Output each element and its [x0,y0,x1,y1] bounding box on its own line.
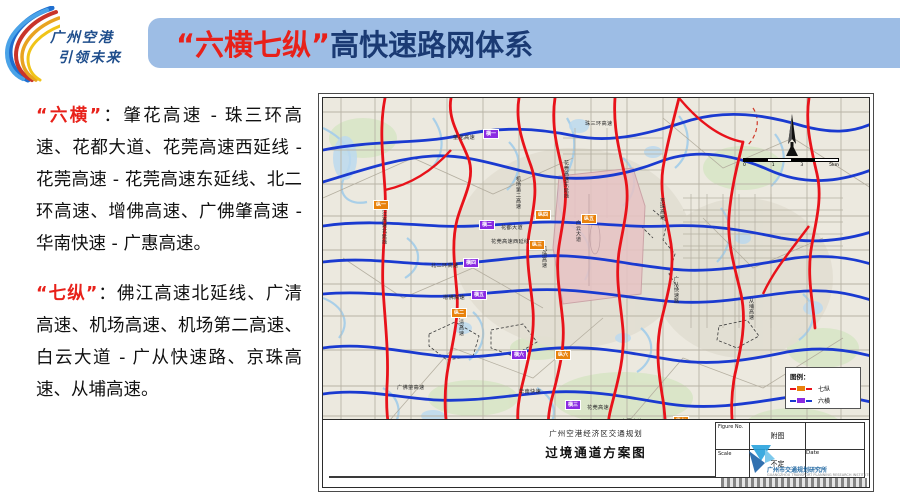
map-road-label: 从埔高速 [748,298,755,320]
map-road-label: 佛江高速北延线 [381,206,388,245]
legend-title: 图例： [790,371,856,381]
paragraph-liuheng-key: “六横” [36,106,101,126]
map-road-label: 花都大道 [501,224,523,231]
scale-label: Scale [716,450,750,477]
page-title-quoted: “六横七纵” [176,28,330,62]
legend-item-qizong: 七纵 [790,384,856,393]
paragraph-liuheng-body: 肇花高速 - 珠三环高速、花都大道、花莞高速西延线 - 花莞高速 - 花莞高速东… [36,106,302,254]
map-corridor-tag: 横六 [511,350,527,360]
title-block-scale-row: Scale 不定 Date [716,450,864,477]
map-corridor-tag: 纵二 [451,308,467,318]
map-corridor-tag: 横三 [565,400,581,410]
scale-bar-line [743,158,839,162]
title-block-spacer-1 [806,423,864,449]
figure-label: Figure No. [716,423,750,449]
map-road-label: 广从快速路 [673,276,680,304]
title-bar: “六横七纵”高快速路网体系 [148,18,900,68]
scale-value: 不定 [750,450,806,477]
legend-item-liuheng: 六横 [790,396,856,405]
map-title-block: Figure No. 附图 Scale 不定 Date [715,422,865,478]
page-title-rest: 高快速路网体系 [330,28,533,62]
map-road-label: 花莞高速西延线 [491,238,529,245]
paragraph-liuheng: “六横”：肇花高速 - 珠三环高速、花都大道、花莞高速西延线 - 花莞高速 - … [14,100,302,260]
paragraph-qizong-key: “七纵” [36,284,97,304]
title-block-figure-row: Figure No. 附图 [716,423,864,450]
map-caption-strip: 广州空港经济区交通规划 过境通道方案图 Figure No. 附图 Scale … [323,419,869,487]
map-corridor-tag: 纵一 [373,200,389,210]
map-corridor-tag: 纵六 [555,350,571,360]
map-corridor-tag: 横一 [483,129,499,139]
logo-line-1: 广州空港 [50,30,114,46]
scale-bar: 0135km [743,158,839,168]
map-road-label: 增佛高速 [443,294,465,301]
map-road-label: 广佛肇高速 [397,384,424,391]
map-road-label: 华南快速 [519,388,541,395]
date-label: Date [806,450,864,477]
scale-tick: 5km [829,163,839,168]
map-inner-frame: 肇花高速花都大道珠三环高速佛江高速北延线广清高速机场高速机场第二高速白云大道京珠… [322,97,870,488]
legend-symbol-red [790,385,812,392]
map-road-label: 花莞高速 [587,404,609,411]
map-road-label: 珠三环高速 [585,120,612,127]
scale-tick: 1 [772,163,775,168]
north-arrow-icon [781,114,803,158]
brand-logo: 广州空港 引领未来 [4,6,144,84]
scale-bar-ticks: 0135km [743,163,839,168]
map-road-label: 京珠高速 [659,198,666,220]
legend-symbol-blue [790,397,812,404]
slide-header: 广州空港 引领未来 “六横七纵”高快速路网体系 [0,0,900,88]
scale-tick: 0 [743,163,746,168]
watermark-strip [721,478,867,487]
map-road-label: 肇花高速 [453,134,475,141]
paragraph-qizong: “七纵”：佛江高速北延线、广清高速、机场高速、机场第二高速、白云大道 - 广从快… [14,278,302,406]
logo-line-2: 引领未来 [50,48,146,68]
map-corridor-tag: 横五 [471,290,487,300]
paragraph-liuheng-sep: ： [101,106,123,126]
paragraph-qizong-sep: ： [97,284,117,304]
map-figure: 肇花高速花都大道珠三环高速佛江高速北延线广清高速机场高速机场第二高速白云大道京珠… [318,93,874,492]
map-road-label: 机场第二高速 [515,176,522,209]
map-corridor-tag: 纵五 [581,214,597,224]
scale-tick: 3 [800,163,803,168]
map-corridor-tag: 横四 [463,258,479,268]
slide-root: 广州空港 引领未来 “六横七纵”高快速路网体系 “六横”：肇花高速 - 珠三环高… [0,0,900,500]
page-title: “六横七纵”高快速路网体系 [148,22,533,64]
figure-value: 附图 [750,423,806,449]
map-corridor-tag: 横二 [479,220,495,230]
map-road-label: 北二环高速 [431,262,458,269]
map-road-label: 花莞高速东延线 [563,160,570,199]
brand-logo-text: 广州空港 引领未来 [50,28,146,68]
map-legend: 图例： 七纵 六横 [785,367,861,409]
map-corridor-tag: 纵四 [535,210,551,220]
description-column: “六横”：肇花高速 - 珠三环高速、花都大道、花莞高速西延线 - 花莞高速 - … [14,100,302,492]
legend-label-liuheng: 六横 [818,396,830,405]
map-corridor-tag: 纵三 [529,240,545,250]
legend-label-qizong: 七纵 [818,384,830,393]
